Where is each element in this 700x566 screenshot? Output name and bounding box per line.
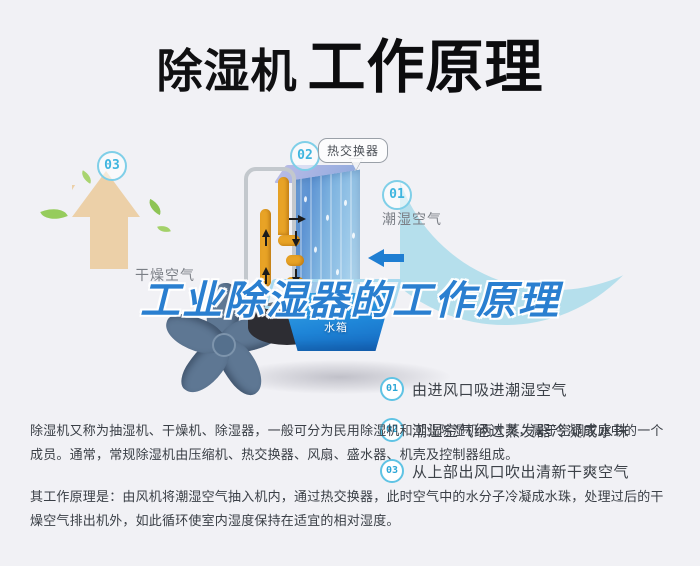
diagram-badge-01: 01 bbox=[382, 180, 412, 210]
list-item: 01 由进风口吸进潮湿空气 bbox=[380, 377, 690, 401]
legend-badge: 01 bbox=[380, 377, 404, 401]
intake-arrow-stem bbox=[382, 254, 404, 262]
dehumidifier-diagram: 干燥空气 bbox=[0, 125, 700, 405]
body-copy: 除湿机又称为抽湿机、干燥机、除湿器，一般可分为民用除湿机和工业除湿机两大类，属于… bbox=[30, 420, 670, 552]
paragraph-1: 除湿机又称为抽湿机、干燥机、除湿器，一般可分为民用除湿机和工业除湿机两大类，属于… bbox=[30, 420, 670, 468]
dehumidifier-unit: 水箱 bbox=[240, 153, 400, 368]
intake-arrow-icon bbox=[368, 249, 384, 267]
dry-air-arrow-stem bbox=[90, 213, 128, 269]
page-title: 除湿机工作原理 bbox=[0, 20, 700, 104]
diagram-badge-02: 02 bbox=[290, 141, 320, 171]
paragraph-2: 其工作原理是：由风机将潮湿空气抽入机内，通过热交换器，此时空气中的水分子冷凝成水… bbox=[30, 486, 670, 534]
diagram-badge-03: 03 bbox=[97, 151, 127, 181]
humid-air-label: 潮湿空气 bbox=[382, 209, 442, 229]
leaf-icon bbox=[40, 203, 67, 225]
legend-text: 由进风口吸进潮湿空气 bbox=[412, 379, 567, 400]
page-title-part1: 除湿机 bbox=[156, 44, 297, 98]
overlay-watermark-title: 工业除湿器的工作原理 bbox=[0, 268, 700, 326]
poster-canvas: 除湿机工作原理 干燥空气 bbox=[0, 0, 700, 566]
fan-hub bbox=[212, 333, 236, 357]
callout-tail bbox=[350, 159, 362, 170]
page-title-part2: 工作原理 bbox=[307, 33, 543, 101]
